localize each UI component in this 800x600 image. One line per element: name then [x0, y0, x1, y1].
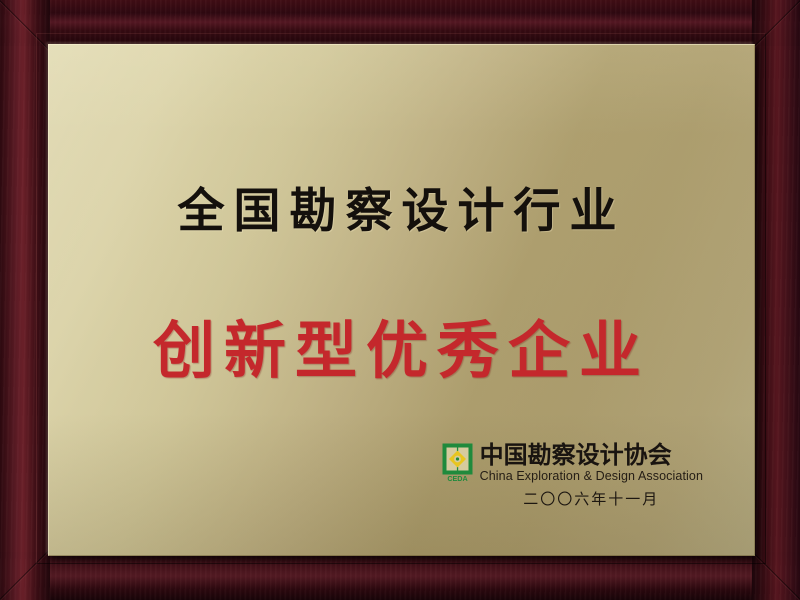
frame-bottom-rail — [0, 552, 800, 600]
gold-plate: 全国勘察设计行业 创新型优秀企业 — [48, 44, 755, 556]
frame-left-stile — [0, 0, 50, 600]
frame-right-stile — [752, 0, 800, 600]
award-title-line-2: 创新型优秀企业 — [48, 300, 755, 390]
award-plaque: 全国勘察设计行业 创新型优秀企业 — [0, 0, 800, 600]
frame-top-rail — [0, 0, 800, 46]
issuer-text-block: 中国勘察设计协会 China Exploration & Design Asso… — [480, 442, 703, 509]
plate-content: 全国勘察设计行业 创新型优秀企业 — [48, 44, 755, 556]
ceda-wordmark: CEDA — [447, 474, 467, 483]
issuer-name-chinese: 中国勘察设计协会 — [480, 442, 703, 468]
issuer-block: CEDA 中国勘察设计协会 China Exploration & Design… — [442, 442, 703, 509]
issuer-date: 二〇〇六年十一月 — [480, 489, 703, 509]
issuer-name-english: China Exploration & Design Association — [480, 469, 703, 484]
ceda-diamond-logo-icon: CEDA — [442, 443, 473, 483]
award-title-line-1: 全国勘察设计行业 — [48, 172, 755, 241]
